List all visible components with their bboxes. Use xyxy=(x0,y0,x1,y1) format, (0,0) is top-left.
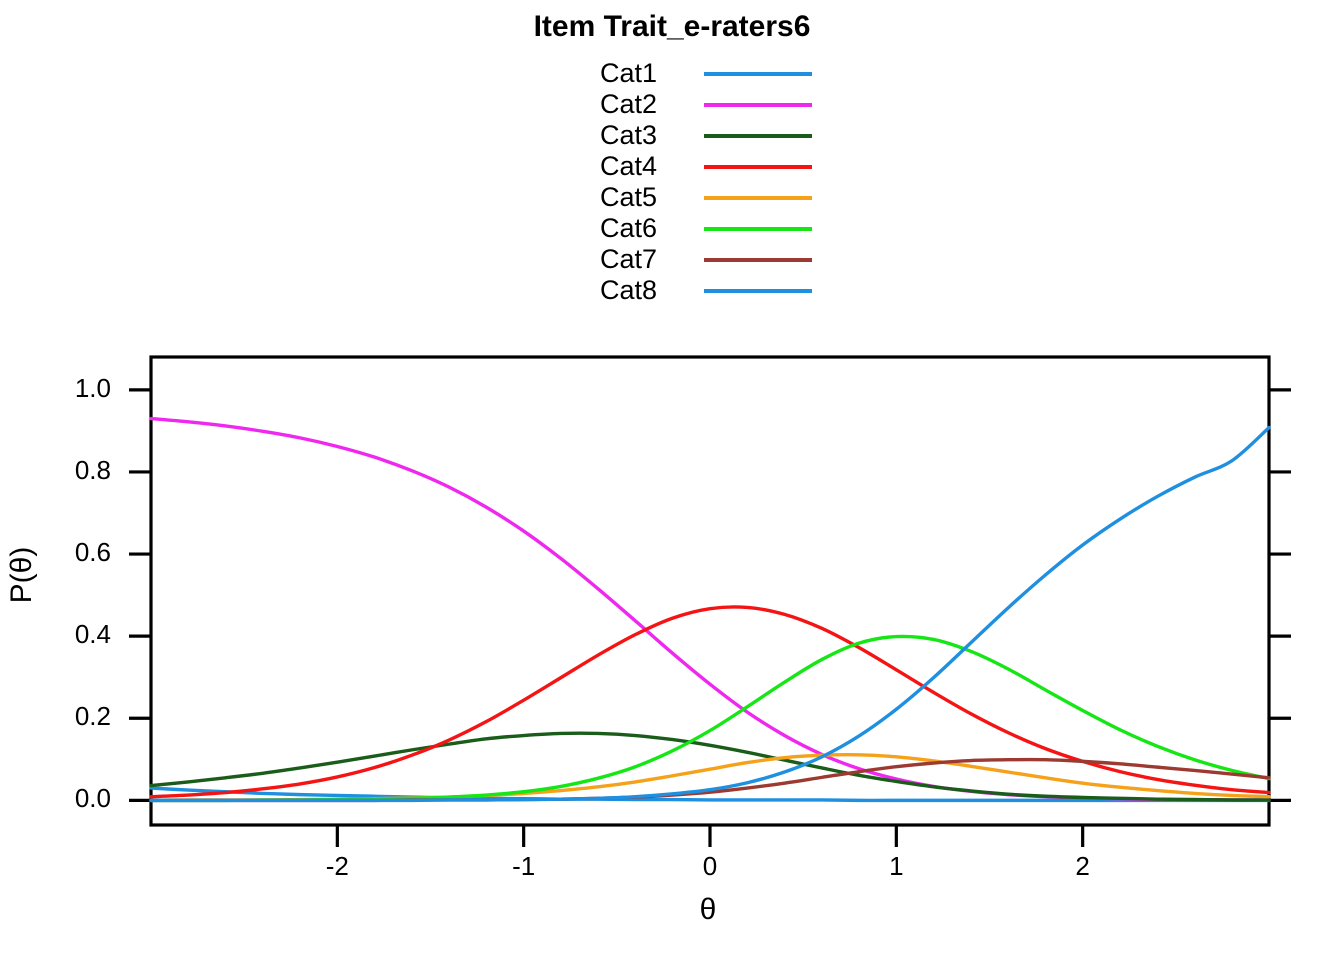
y-tick-label: 0.2 xyxy=(41,701,111,732)
x-tick-label: 1 xyxy=(866,851,926,882)
axis-ticks xyxy=(129,390,1291,847)
chart-page: Item Trait_e-raters6 Cat1Cat2Cat3Cat4Cat… xyxy=(0,0,1344,960)
plot-border xyxy=(151,357,1269,825)
plot-canvas xyxy=(0,0,1344,960)
x-tick-label: 0 xyxy=(680,851,740,882)
y-tick-label: 1.0 xyxy=(41,373,111,404)
data-curves xyxy=(151,419,1269,801)
y-tick-label: 0.0 xyxy=(41,783,111,814)
y-tick-label: 0.4 xyxy=(41,619,111,650)
x-tick-label: -2 xyxy=(307,851,367,882)
y-axis-label: P(θ) xyxy=(5,515,39,635)
y-tick-label: 0.8 xyxy=(41,455,111,486)
plot-frame xyxy=(151,357,1269,825)
x-tick-label: -1 xyxy=(494,851,554,882)
y-tick-label: 0.6 xyxy=(41,537,111,568)
curve-cat6 xyxy=(151,636,1269,800)
x-tick-label: 2 xyxy=(1053,851,1113,882)
x-axis-label: θ xyxy=(648,893,768,927)
